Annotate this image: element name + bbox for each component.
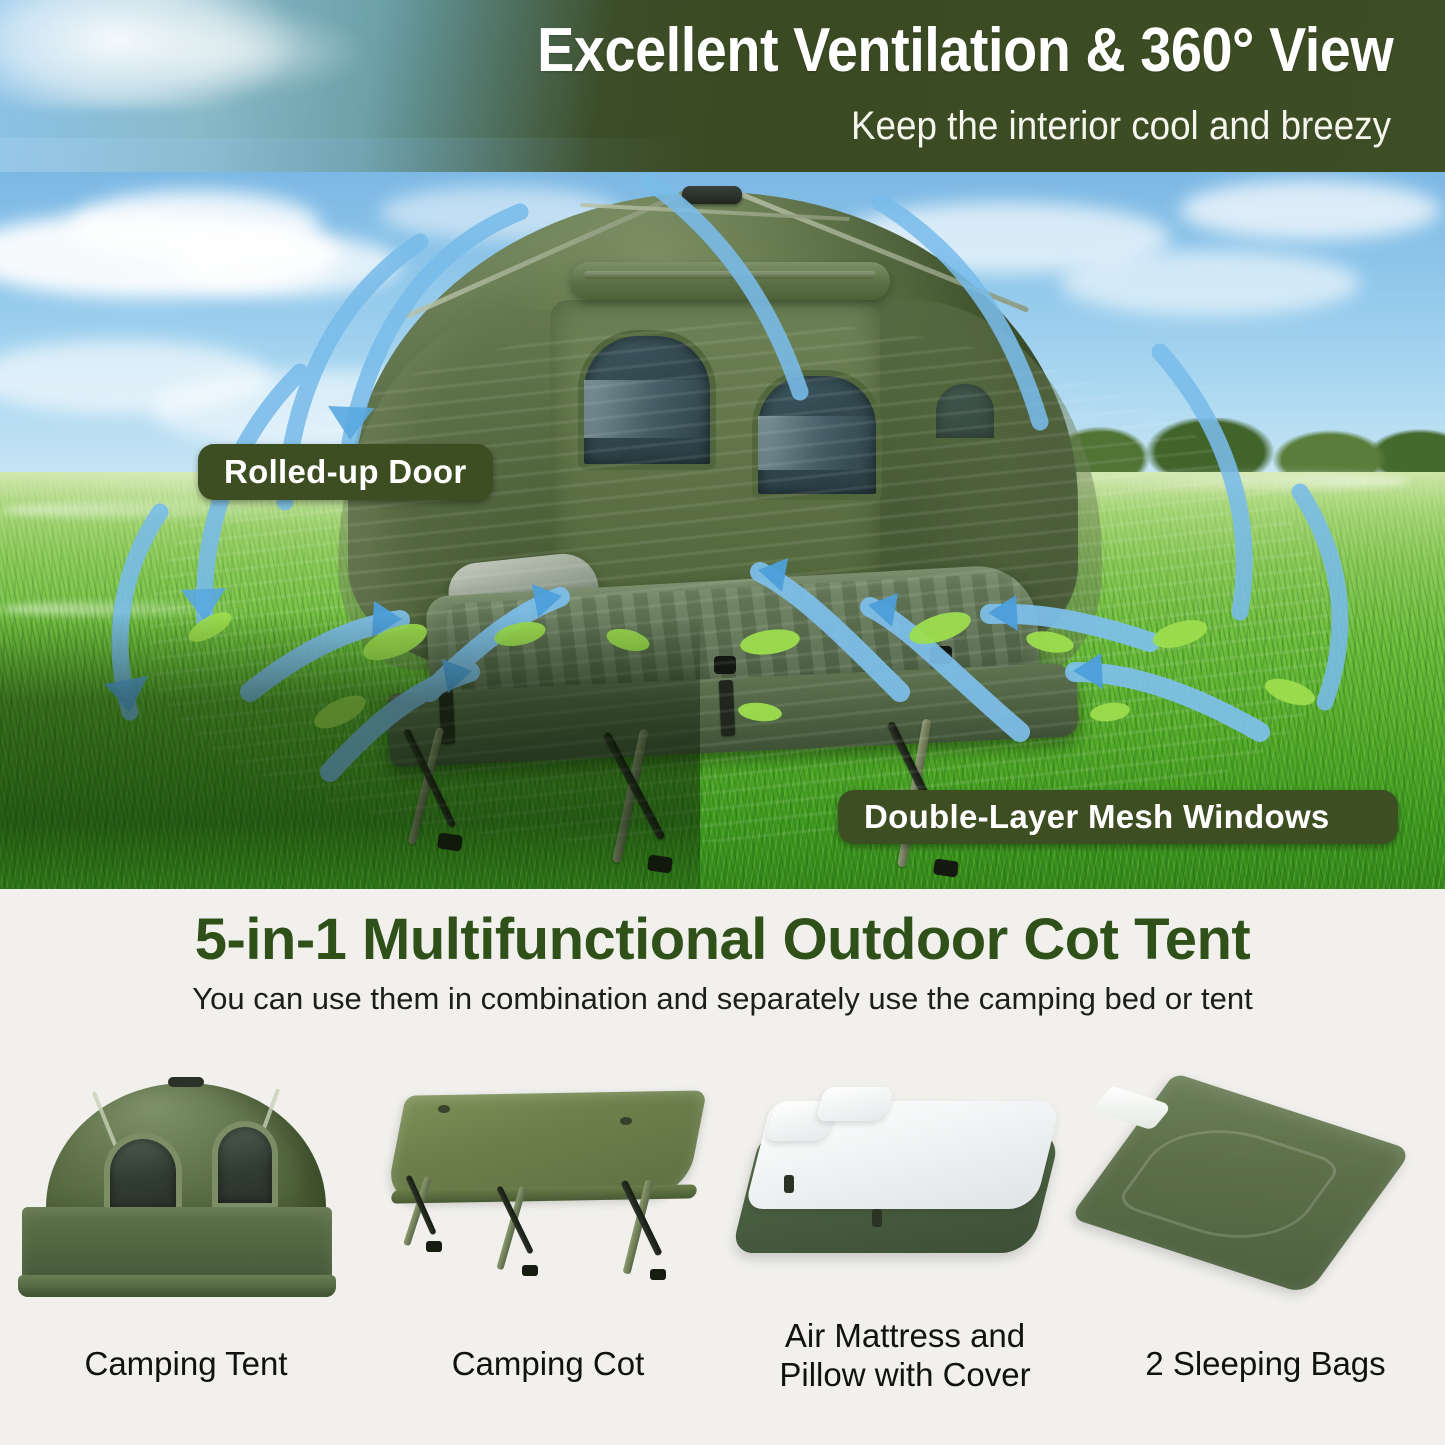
cot-strap: [719, 680, 736, 737]
cot-buckle: [930, 646, 952, 664]
window-glare: [758, 416, 876, 470]
mattress-strap: [872, 1209, 882, 1227]
cot-foot: [933, 858, 959, 877]
cloud-decoration: [120, 6, 370, 96]
item-label: Camping Cot: [372, 1345, 724, 1384]
badge-label: Double-Layer Mesh Windows: [864, 798, 1330, 836]
product-items-row: Camping Tent: [0, 1059, 1445, 1445]
mesh-window-left: [578, 330, 716, 470]
tent-mesh-window: [212, 1121, 278, 1209]
badge-rolled-up-door: Rolled-up Door: [198, 444, 493, 500]
air-mattress-illustration: [724, 1059, 1086, 1329]
badge-double-layer-mesh-windows: Double-Layer Mesh Windows: [838, 790, 1398, 844]
tent-hub-icon: [168, 1077, 204, 1087]
cot-grommet: [620, 1117, 632, 1125]
header-subtitle: Keep the interior cool and breezy: [851, 106, 1391, 146]
product-item-air-mattress: Air Mattress and Pillow with Cover: [724, 1059, 1086, 1445]
cot-buckle: [714, 656, 736, 674]
sleeping-bag-illustration: [1086, 1059, 1445, 1329]
item-label: Camping Tent: [0, 1345, 372, 1384]
camping-tent-illustration: [0, 1059, 372, 1329]
product-item-sleeping-bags: 2 Sleeping Bags: [1086, 1059, 1445, 1445]
cot-foot: [426, 1241, 442, 1252]
text-vignette: [0, 552, 700, 889]
cloud-decoration: [1060, 250, 1360, 316]
mesh-window-far: [930, 378, 1000, 444]
cloud-decoration: [1180, 180, 1440, 240]
badge-label: Rolled-up Door: [224, 453, 467, 491]
item-label: Air Mattress and Pillow with Cover: [724, 1317, 1086, 1395]
mesh-window-right: [752, 370, 882, 500]
tent-skirt: [22, 1207, 332, 1285]
tent-base: [18, 1275, 336, 1297]
header-banner: Excellent Ventilation & 360° View Keep t…: [0, 0, 1445, 172]
product-infographic: Excellent Ventilation & 360° View Keep t…: [0, 0, 1445, 1445]
product-item-camping-tent: Camping Tent: [0, 1059, 372, 1445]
hero-scene: Rolled-up Door Double-Layer Mesh Windows…: [0, 172, 1445, 889]
tent-hub-icon: [682, 186, 742, 204]
rolled-up-door-flap: [570, 262, 890, 300]
features-section: 5-in-1 Multifunctional Outdoor Cot Tent …: [0, 889, 1445, 1445]
window-glare: [584, 380, 710, 439]
section-title: 5-in-1 Multifunctional Outdoor Cot Tent: [0, 911, 1445, 969]
mattress-strap: [784, 1175, 794, 1193]
item-label: 2 Sleeping Bags: [1086, 1345, 1445, 1384]
cot-foot: [522, 1265, 538, 1276]
cot-foot: [650, 1269, 666, 1280]
camping-cot-illustration: [372, 1059, 724, 1329]
pillow: [815, 1087, 895, 1121]
header-title: Excellent Ventilation & 360° View: [537, 20, 1393, 82]
tent-mesh-window: [104, 1133, 182, 1215]
product-item-camping-cot: Camping Cot: [372, 1059, 724, 1445]
section-subtitle: You can use them in combination and sepa…: [0, 983, 1445, 1014]
cot-grommet: [438, 1105, 450, 1113]
tent-canopy: [46, 1083, 326, 1223]
